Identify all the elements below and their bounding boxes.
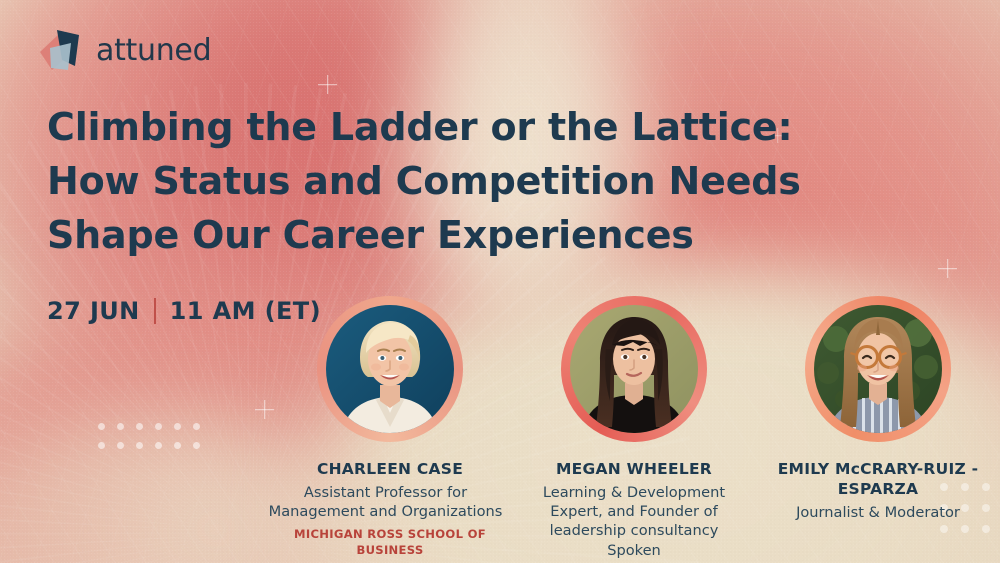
speaker-organization: MICHIGAN ROSS SCHOOL OF BUSINESS xyxy=(268,527,512,558)
datetime-divider xyxy=(154,298,156,324)
plus-mark-icon xyxy=(938,259,957,278)
speaker-name: EMILY McCRARY-RUIZ -ESPARZA xyxy=(772,460,984,500)
headline-line-2: How Status and Competition Needs xyxy=(47,155,877,209)
speaker-card: EMILY McCRARY-RUIZ -ESPARZA Journalist &… xyxy=(756,296,1000,522)
speaker-name: CHARLEEN CASE xyxy=(317,460,463,480)
speaker-card: CHARLEEN CASE Assistant Professor for Ma… xyxy=(268,296,512,558)
headline-line-1: Climbing the Ladder or the Lattice: xyxy=(47,101,877,155)
brand-logo[interactable]: attuned xyxy=(38,26,211,74)
speaker-card: MEGAN WHEELER Learning & Development Exp… xyxy=(512,296,756,560)
portrait-megan-wheeler-image xyxy=(570,305,698,433)
speaker-role: Journalist & Moderator xyxy=(796,503,960,522)
dot-grid-left xyxy=(98,423,200,449)
avatar xyxy=(561,296,707,442)
speaker-list: CHARLEEN CASE Assistant Professor for Ma… xyxy=(268,296,1000,560)
headline-line-3: Shape Our Career Experiences xyxy=(47,209,877,263)
portrait-charleen-case-image xyxy=(326,305,454,433)
promo-banner: attuned Climbing the Ladder or the Latti… xyxy=(0,0,1000,563)
page-title: Climbing the Ladder or the Lattice: How … xyxy=(47,101,877,263)
brand-wordmark: attuned xyxy=(96,33,211,68)
attuned-diamond-logo-icon xyxy=(38,26,94,74)
portrait-emily-mccrary-ruiz-esparza-image xyxy=(814,305,942,433)
speaker-name: MEGAN WHEELER xyxy=(556,460,712,480)
speaker-role: Assistant Professor for Management and O… xyxy=(255,483,517,522)
avatar xyxy=(317,296,463,442)
plus-mark-icon xyxy=(318,75,337,94)
event-date: 27 JUN xyxy=(47,297,140,325)
avatar xyxy=(805,296,951,442)
speaker-role: Learning & Development Expert, and Found… xyxy=(536,483,732,560)
